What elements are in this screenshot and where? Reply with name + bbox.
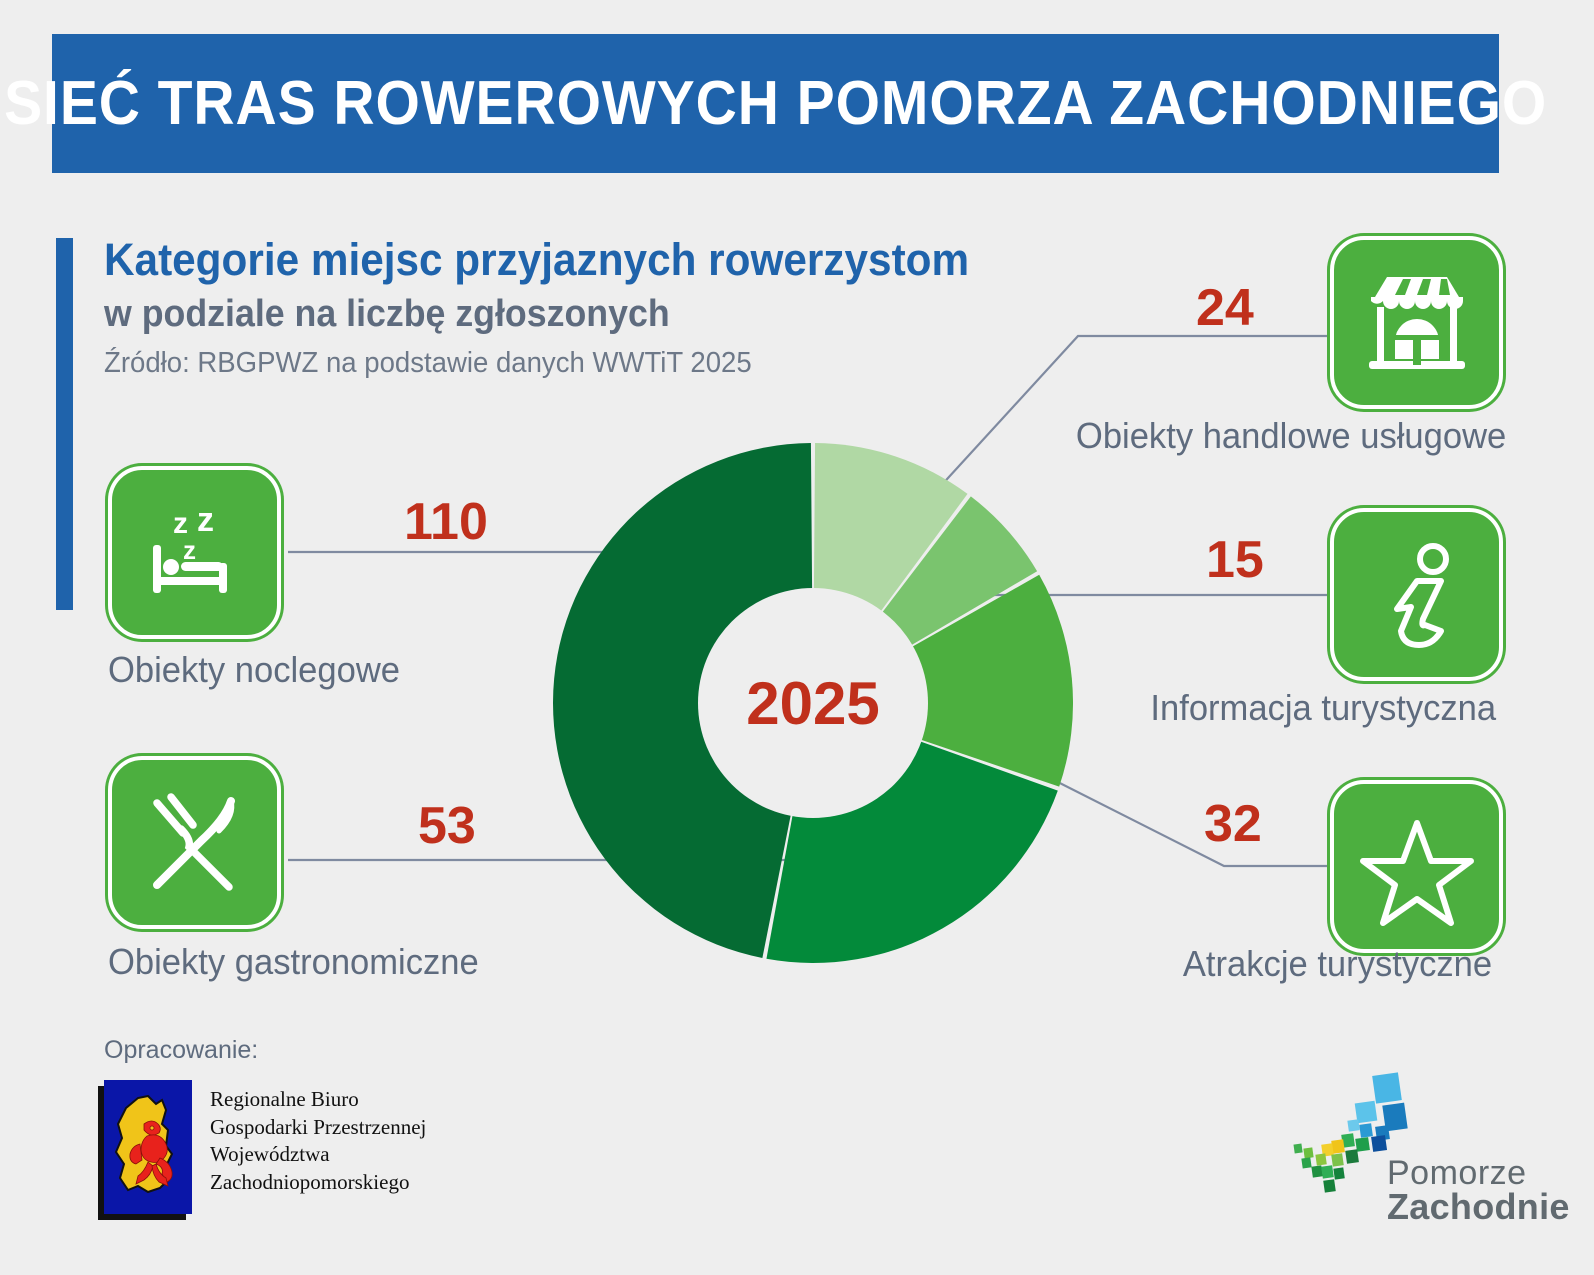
label-obiekty-noclegowe: Obiekty noclegowe xyxy=(108,652,400,688)
page-title: SIEĆ TRAS ROWEROWYCH POMORZA ZACHODNIEGO xyxy=(4,68,1547,139)
shop-icon xyxy=(1355,263,1479,383)
tile-atrakcje-turystyczne[interactable] xyxy=(1330,780,1503,953)
infographic-canvas: SIEĆ TRAS ROWEROWYCH POMORZA ZACHODNIEGO… xyxy=(0,0,1594,1275)
tile-obiekty-handlowe[interactable] xyxy=(1330,236,1503,409)
rbgpwz-credit: Regionalne Biuro Gospodarki Przestrzenne… xyxy=(104,1080,426,1214)
bed-zzz-icon: z z z xyxy=(135,493,255,613)
value-atrakcje-turystyczne: 32 xyxy=(1204,798,1262,850)
star-icon xyxy=(1357,807,1477,927)
svg-text:z: z xyxy=(197,501,214,539)
footer-note: Opracowanie: xyxy=(104,1036,258,1065)
intro-block: Kategorie miejsc przyjaznych rowerzystom… xyxy=(104,236,1054,380)
value-obiekty-handlowe: 24 xyxy=(1196,282,1254,334)
value-obiekty-noclegowe: 110 xyxy=(404,496,488,548)
rbgpwz-logo xyxy=(104,1080,192,1214)
info-i-icon xyxy=(1357,535,1477,655)
fork-knife-icon xyxy=(135,783,255,903)
donut-chart: 2025 xyxy=(553,443,1073,963)
intro-title: Kategorie miejsc przyjaznych rowerzystom xyxy=(104,236,997,284)
intro-source: Źródło: RBGPWZ na podstawie danych WWTiT… xyxy=(104,347,1007,380)
donut-svg xyxy=(553,443,1073,963)
label-atrakcje-turystyczne: Atrakcje turystyczne xyxy=(1183,946,1492,982)
tile-obiekty-gastronomiczne[interactable] xyxy=(108,756,281,929)
rbgpwz-line-1: Regionalne Biuro xyxy=(210,1086,426,1114)
svg-text:z: z xyxy=(183,535,196,565)
label-informacja-turystyczna: Informacja turystyczna xyxy=(1150,690,1496,726)
rbgpwz-name: Regionalne Biuro Gospodarki Przestrzenne… xyxy=(210,1080,426,1197)
accent-bar xyxy=(56,238,73,610)
value-informacja-turystyczna: 15 xyxy=(1206,534,1264,586)
label-obiekty-handlowe: Obiekty handlowe usługowe xyxy=(1076,418,1506,454)
label-obiekty-gastronomiczne: Obiekty gastronomiczne xyxy=(108,944,479,980)
rbgpwz-line-3: Województwa xyxy=(210,1141,426,1169)
tile-informacja-turystyczna[interactable] xyxy=(1330,508,1503,681)
leader-line-atrakcje xyxy=(1036,771,1367,866)
donut-hole xyxy=(698,588,928,818)
pomorze-zachodnie-logo: Pomorze Zachodnie xyxy=(1272,1062,1542,1237)
pz-word-zachodnie: Zachodnie xyxy=(1387,1186,1570,1228)
value-obiekty-gastronomiczne: 53 xyxy=(418,800,476,852)
rbgpwz-line-4: Zachodniopomorskiego xyxy=(210,1169,426,1197)
rbgpwz-line-2: Gospodarki Przestrzennej xyxy=(210,1114,426,1142)
header-band: SIEĆ TRAS ROWEROWYCH POMORZA ZACHODNIEGO xyxy=(52,34,1499,173)
intro-subtitle: w podziale na liczbę zgłoszonych xyxy=(104,294,997,336)
tile-obiekty-noclegowe[interactable]: z z z xyxy=(108,466,281,639)
